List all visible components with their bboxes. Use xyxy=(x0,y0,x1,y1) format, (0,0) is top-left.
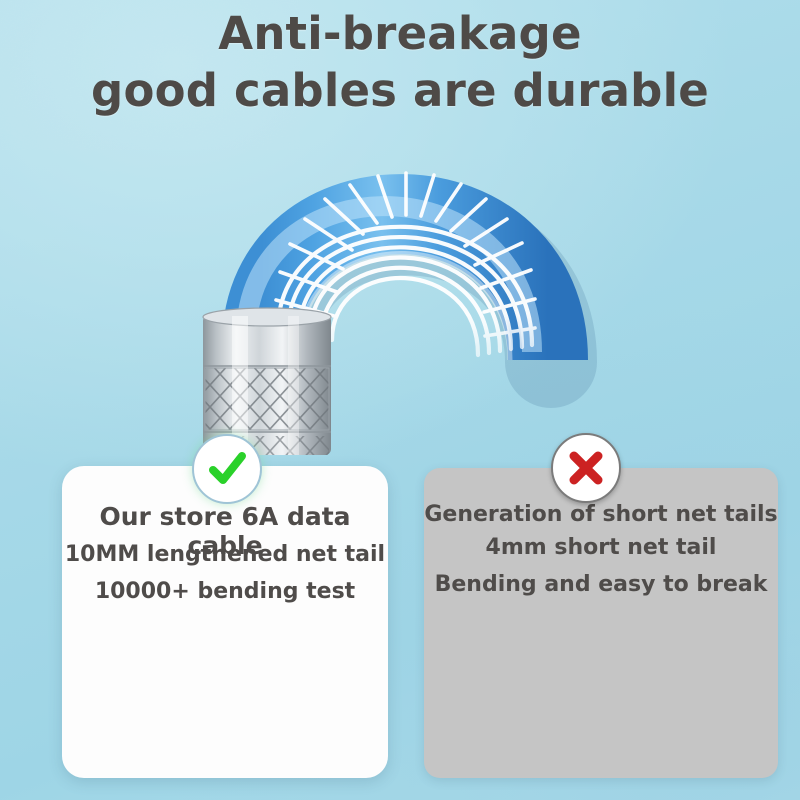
check-badge xyxy=(192,434,262,504)
bad-card-line-3: Bending and easy to break xyxy=(424,572,778,597)
good-card-line-3: 10000+ bending test xyxy=(62,579,388,604)
good-card-line-2: 10MM lengthened net tail xyxy=(62,542,388,567)
good-product-card: Our store 6A data cable 10MM lengthened … xyxy=(62,466,388,778)
bad-card-title: Generation of short net tails xyxy=(424,502,778,527)
bad-card-line-2: 4mm short net tail xyxy=(424,535,778,560)
check-icon xyxy=(204,446,250,492)
product-infographic: Anti-breakage good cables are durable xyxy=(0,0,800,800)
cable-metal-connector xyxy=(203,308,331,455)
cross-icon xyxy=(565,447,607,489)
bad-product-card: Generation of short net tails 4mm short … xyxy=(424,468,778,778)
cross-badge xyxy=(551,433,621,503)
